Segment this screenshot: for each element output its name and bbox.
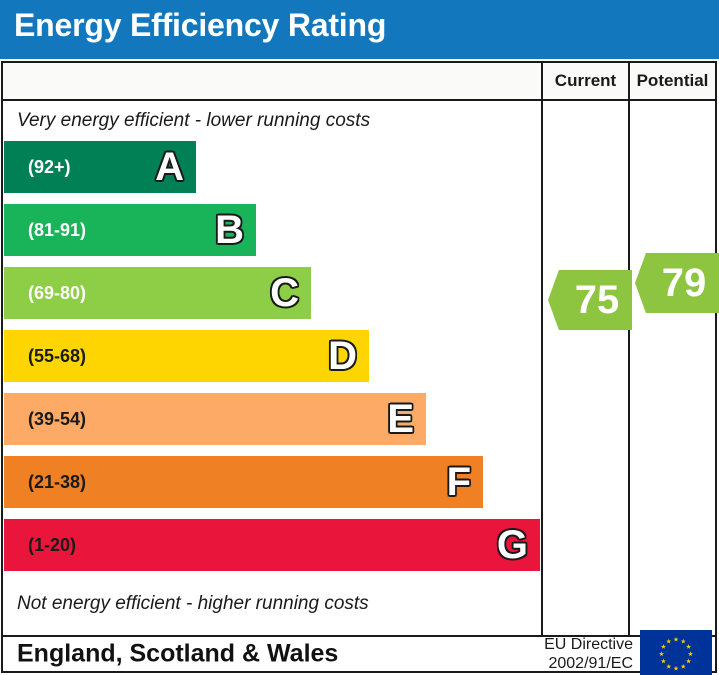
eu-flag-icon (640, 630, 712, 675)
band-letter-f: F (447, 462, 471, 502)
rating-table: Current Potential Very energy efficient … (1, 61, 717, 673)
current-rating-value: 75 (575, 278, 620, 323)
band-letter-a: A (155, 147, 184, 187)
footer-region-label: England, Scotland & Wales (17, 640, 338, 669)
band-letter-g: G (497, 525, 528, 565)
caption-efficient: Very energy efficient - lower running co… (3, 103, 541, 139)
band-g: (1-20)G (4, 519, 540, 571)
column-header-current: Current (541, 63, 628, 99)
band-c: (69-80)C (4, 267, 311, 319)
title-bar: Energy Efficiency Rating (0, 0, 719, 59)
potential-rating-value: 79 (662, 261, 707, 306)
band-b: (81-91)B (4, 204, 256, 256)
band-range-b: (81-91) (28, 221, 86, 239)
footer: England, Scotland & Wales EU Directive 2… (3, 637, 715, 671)
band-a: (92+)A (4, 141, 196, 193)
band-range-a: (92+) (28, 158, 71, 176)
band-letter-b: B (215, 210, 244, 250)
band-range-f: (21-38) (28, 473, 86, 491)
band-e: (39-54)E (4, 393, 426, 445)
eu-directive-line2: 2002/91/EC (523, 654, 633, 673)
potential-rating-arrow: 79 (635, 253, 719, 313)
epc-certificate: Energy Efficiency Rating Current Potenti… (0, 0, 719, 675)
band-f: (21-38)F (4, 456, 483, 508)
band-range-c: (69-80) (28, 284, 86, 302)
column-header-row: Current Potential (3, 63, 715, 101)
band-range-e: (39-54) (28, 410, 86, 428)
band-d: (55-68)D (4, 330, 369, 382)
band-range-d: (55-68) (28, 347, 86, 365)
current-rating-arrow: 75 (548, 270, 632, 330)
page-title: Energy Efficiency Rating (14, 7, 386, 44)
column-header-potential: Potential (628, 63, 715, 99)
band-list: (92+)A(81-91)B(69-80)C(55-68)D(39-54)E(2… (3, 141, 541, 585)
band-letter-d: D (328, 336, 357, 376)
band-range-g: (1-20) (28, 536, 76, 554)
column-divider-right (628, 101, 630, 635)
caption-inefficient: Not energy efficient - higher running co… (3, 586, 541, 622)
column-divider-left (541, 101, 543, 635)
eu-directive-label: EU Directive 2002/91/EC (523, 635, 633, 673)
eu-directive-line1: EU Directive (523, 635, 633, 654)
band-letter-c: C (270, 273, 299, 313)
band-letter-e: E (387, 399, 414, 439)
